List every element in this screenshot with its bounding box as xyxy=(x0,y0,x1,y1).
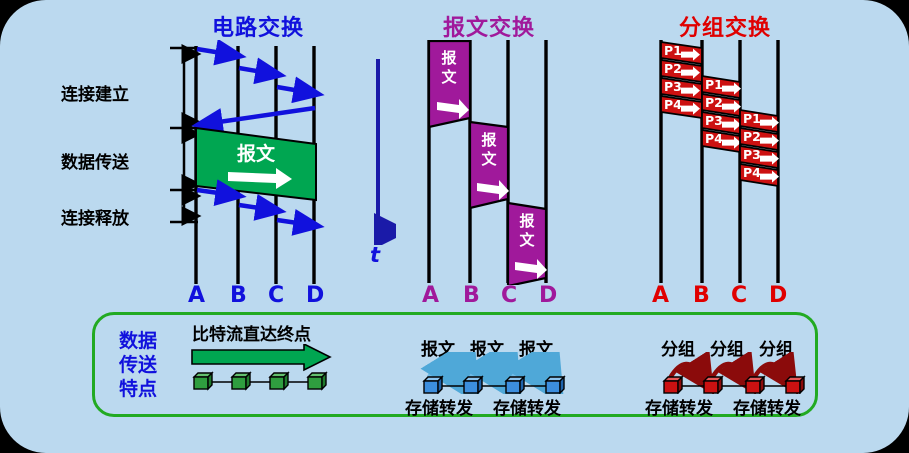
legend-node-cube xyxy=(424,377,442,393)
legend-node-cube xyxy=(308,373,326,389)
circuit-node-label-d: D xyxy=(306,283,324,308)
diagram-root: 电路交换 xyxy=(0,0,909,453)
packet-block-label: P2 xyxy=(664,61,682,76)
packet-block-label: P3 xyxy=(705,113,723,128)
message-block-cd-label-1: 报文 xyxy=(519,212,535,249)
packet-block-label: P4 xyxy=(664,97,682,112)
packet-switching-figure: P1P2P3P4P1P2P3P4P1P2P3P4 xyxy=(645,40,835,285)
panel-title-circuit: 电路交换 xyxy=(212,10,304,42)
legend-node-cube xyxy=(506,377,524,393)
packet-block-label: P1 xyxy=(664,43,682,58)
legend-circuit-graphic xyxy=(186,344,336,392)
legend-node-cube xyxy=(546,377,564,393)
legend-node-cube xyxy=(464,377,482,393)
circuit-node-label-c: C xyxy=(268,283,284,308)
packet-node-label-d: D xyxy=(769,283,787,308)
legend-circuit-caption: 比特流直达终点 xyxy=(192,320,311,345)
legend-node-cube xyxy=(704,377,722,393)
message-node-label-c: C xyxy=(501,283,517,308)
legend-node-cube xyxy=(194,373,212,389)
packet-block-label: P2 xyxy=(743,129,761,144)
legend-node-cube xyxy=(270,373,288,389)
packet-node-label-c: C xyxy=(731,283,747,308)
packet-block-label: P2 xyxy=(705,95,723,110)
message-node-label-b: B xyxy=(463,283,480,308)
message-block-bc-label-1: 报文 xyxy=(481,131,497,168)
legend-packet-bottom-2: 存储转发 xyxy=(733,394,801,419)
legend-title-line-3: 特点 xyxy=(106,378,170,400)
legend-packet-graphic xyxy=(658,352,818,394)
legend-node-cube xyxy=(232,373,250,389)
legend-node-cube xyxy=(664,377,682,393)
packet-block-label: P3 xyxy=(743,147,761,162)
circuit-switching-figure: 报文 xyxy=(140,40,380,300)
legend-message-bottom-2: 存储转发 xyxy=(493,394,561,419)
phase-label-release: 连接释放 xyxy=(61,204,129,229)
panel-title-message: 报文交换 xyxy=(443,10,535,42)
legend-title-line-1: 数据 xyxy=(106,330,170,352)
packet-node-label-b: B xyxy=(693,283,710,308)
time-axis-arrow xyxy=(360,55,396,245)
diagram-card: 电路交换 xyxy=(0,0,909,453)
legend-node-cube xyxy=(786,377,804,393)
packet-block-label: P3 xyxy=(664,79,682,94)
panel-title-packet: 分组交换 xyxy=(679,10,771,42)
phase-label-transfer: 数据传送 xyxy=(61,148,129,173)
message-switching-figure: 报文 报文 报文 xyxy=(415,40,605,285)
legend-message-bottom-1: 存储转发 xyxy=(405,394,473,419)
legend-packet-bottom-1: 存储转发 xyxy=(645,394,713,419)
packet-block-label: P4 xyxy=(743,165,761,180)
legend-message-graphic xyxy=(418,352,578,394)
circuit-node-label-b: B xyxy=(230,283,247,308)
circuit-data-block-label: 报文 xyxy=(237,142,276,165)
legend-straight-arrow-icon xyxy=(192,344,330,370)
message-node-label-d: D xyxy=(539,283,557,308)
packet-block-label: P1 xyxy=(705,77,723,92)
time-axis-label: t xyxy=(370,243,380,267)
phase-label-setup: 连接建立 xyxy=(61,80,129,105)
packet-block-label: P1 xyxy=(743,111,761,126)
packet-block-label: P4 xyxy=(705,131,723,146)
legend-title-line-2: 传送 xyxy=(106,354,170,376)
packet-node-label-a: A xyxy=(652,283,669,308)
circuit-node-label-a: A xyxy=(188,283,205,308)
message-block-ab-label-1: 报文 xyxy=(441,49,457,86)
legend-node-cube xyxy=(746,377,764,393)
message-node-label-a: A xyxy=(422,283,439,308)
